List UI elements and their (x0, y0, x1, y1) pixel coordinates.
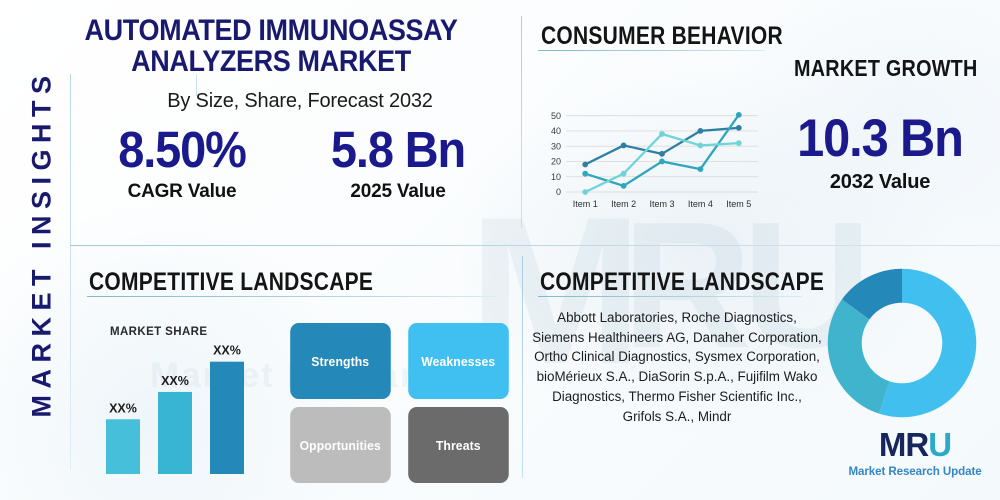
x-axis-tick-label: Item 4 (688, 199, 713, 209)
kpi-forecast-year-value: 10.3 Bn (788, 112, 972, 165)
kpi-cagr-value: 8.50% (94, 124, 271, 175)
x-axis-tick-label: Item 5 (726, 199, 751, 209)
x-axis-tick-label: Item 1 (573, 199, 598, 209)
kpi-forecast-year-label: 2032 Value (780, 171, 980, 194)
sidebar-rail-label: MARKET INSIGHTS (27, 34, 58, 454)
line-series-2 (585, 115, 739, 186)
data-point (621, 143, 627, 149)
data-point (659, 131, 665, 137)
data-point (582, 189, 588, 195)
data-point (736, 140, 742, 146)
section-rule-competitive-landscape-left (87, 296, 496, 297)
logo-mark-accent: U (928, 426, 951, 463)
bar (158, 392, 192, 474)
brand-logo: MRU Market Research Update (847, 428, 983, 490)
swot-cell-opportunities[interactable]: Opportunities (290, 407, 390, 483)
bar (106, 419, 140, 474)
y-axis-tick-label: 50 (551, 111, 561, 121)
page-title: AUTOMATED IMMUNOASSAY ANALYZERS MARKET (47, 16, 495, 77)
logo-wordmark: MRU (847, 428, 983, 461)
data-point (621, 171, 627, 177)
x-axis-tick-label: Item 2 (611, 199, 636, 209)
kpi-cagr-label: CAGR Value (86, 181, 278, 203)
section-heading-market-growth: MARKET GROWTH (794, 55, 966, 82)
infographic-canvas: M R U Market Research MARKET INSIGHTS AU… (0, 0, 1000, 500)
swot-cell-label: Opportunities (300, 438, 381, 453)
bar (210, 362, 244, 474)
section-rule-competitive-landscape-right (538, 296, 802, 297)
divider-vertical-middle-top (521, 16, 522, 228)
swot-grid: StrengthsWeaknessesOpportunitiesThreats (287, 323, 511, 483)
section-heading-competitive-landscape-right: COMPETITIVE LANDSCAPE (540, 268, 824, 297)
logo-mark-dark: MR (879, 426, 928, 463)
data-point (698, 166, 704, 172)
swot-cell-label: Strengths (311, 354, 369, 369)
consumer-behavior-line-chart: 01020304050Item 1Item 2Item 3Item 4Item … (536, 100, 768, 218)
kpi-forecast-year: 10.3 Bn 2032 Value (780, 112, 980, 194)
bar-data-label: XX% (161, 374, 189, 388)
swot-cell-label: Threats (435, 438, 480, 453)
swot-cell-strengths[interactable]: Strengths (290, 323, 390, 399)
competitor-company-list: Abbott Laboratories, Roche Diagnostics, … (531, 308, 823, 426)
data-point (698, 143, 704, 149)
y-axis-tick-label: 40 (551, 126, 561, 136)
y-axis-tick-label: 30 (551, 141, 561, 151)
kpi-base-year-label: 2025 Value (302, 181, 494, 203)
section-rule-consumer-behavior (538, 50, 765, 51)
data-point (659, 151, 665, 157)
section-heading-competitive-landscape-left: COMPETITIVE LANDSCAPE (89, 268, 373, 297)
divider-horizontal (70, 245, 1000, 246)
y-axis-tick-label: 0 (556, 187, 561, 197)
data-point (582, 162, 588, 168)
data-point (659, 159, 665, 165)
data-point (698, 128, 704, 134)
donut-segment-2 (828, 299, 890, 413)
y-axis-tick-label: 20 (551, 157, 561, 167)
page-subtitle: By Size, Share, Forecast 2032 (80, 90, 520, 113)
logo-tagline: Market Research Update (847, 465, 983, 478)
bar-data-label: XX% (213, 344, 241, 358)
swot-cell-threats[interactable]: Threats (408, 407, 508, 483)
data-point (736, 112, 742, 118)
kpi-base-year-value: 5.8 Bn (310, 124, 487, 175)
kpi-base-year: 5.8 Bn 2025 Value (302, 124, 494, 203)
swot-cell-weaknesses[interactable]: Weaknesses (408, 323, 508, 399)
market-share-donut-chart (823, 264, 981, 422)
x-axis-tick-label: Item 3 (649, 199, 674, 209)
divider-vertical-left (70, 74, 71, 470)
data-point (582, 171, 588, 177)
data-point (621, 183, 627, 189)
bar-data-label: XX% (109, 401, 137, 415)
y-axis-tick-label: 10 (551, 172, 561, 182)
swot-cell-label: Weaknesses (421, 354, 495, 369)
data-point (736, 125, 742, 131)
market-share-bar-chart: XX%XX%XX% (92, 322, 274, 480)
kpi-cagr: 8.50% CAGR Value (86, 124, 278, 203)
section-heading-consumer-behavior: CONSUMER BEHAVIOR (541, 22, 783, 51)
divider-vertical-middle-bottom (522, 256, 523, 478)
